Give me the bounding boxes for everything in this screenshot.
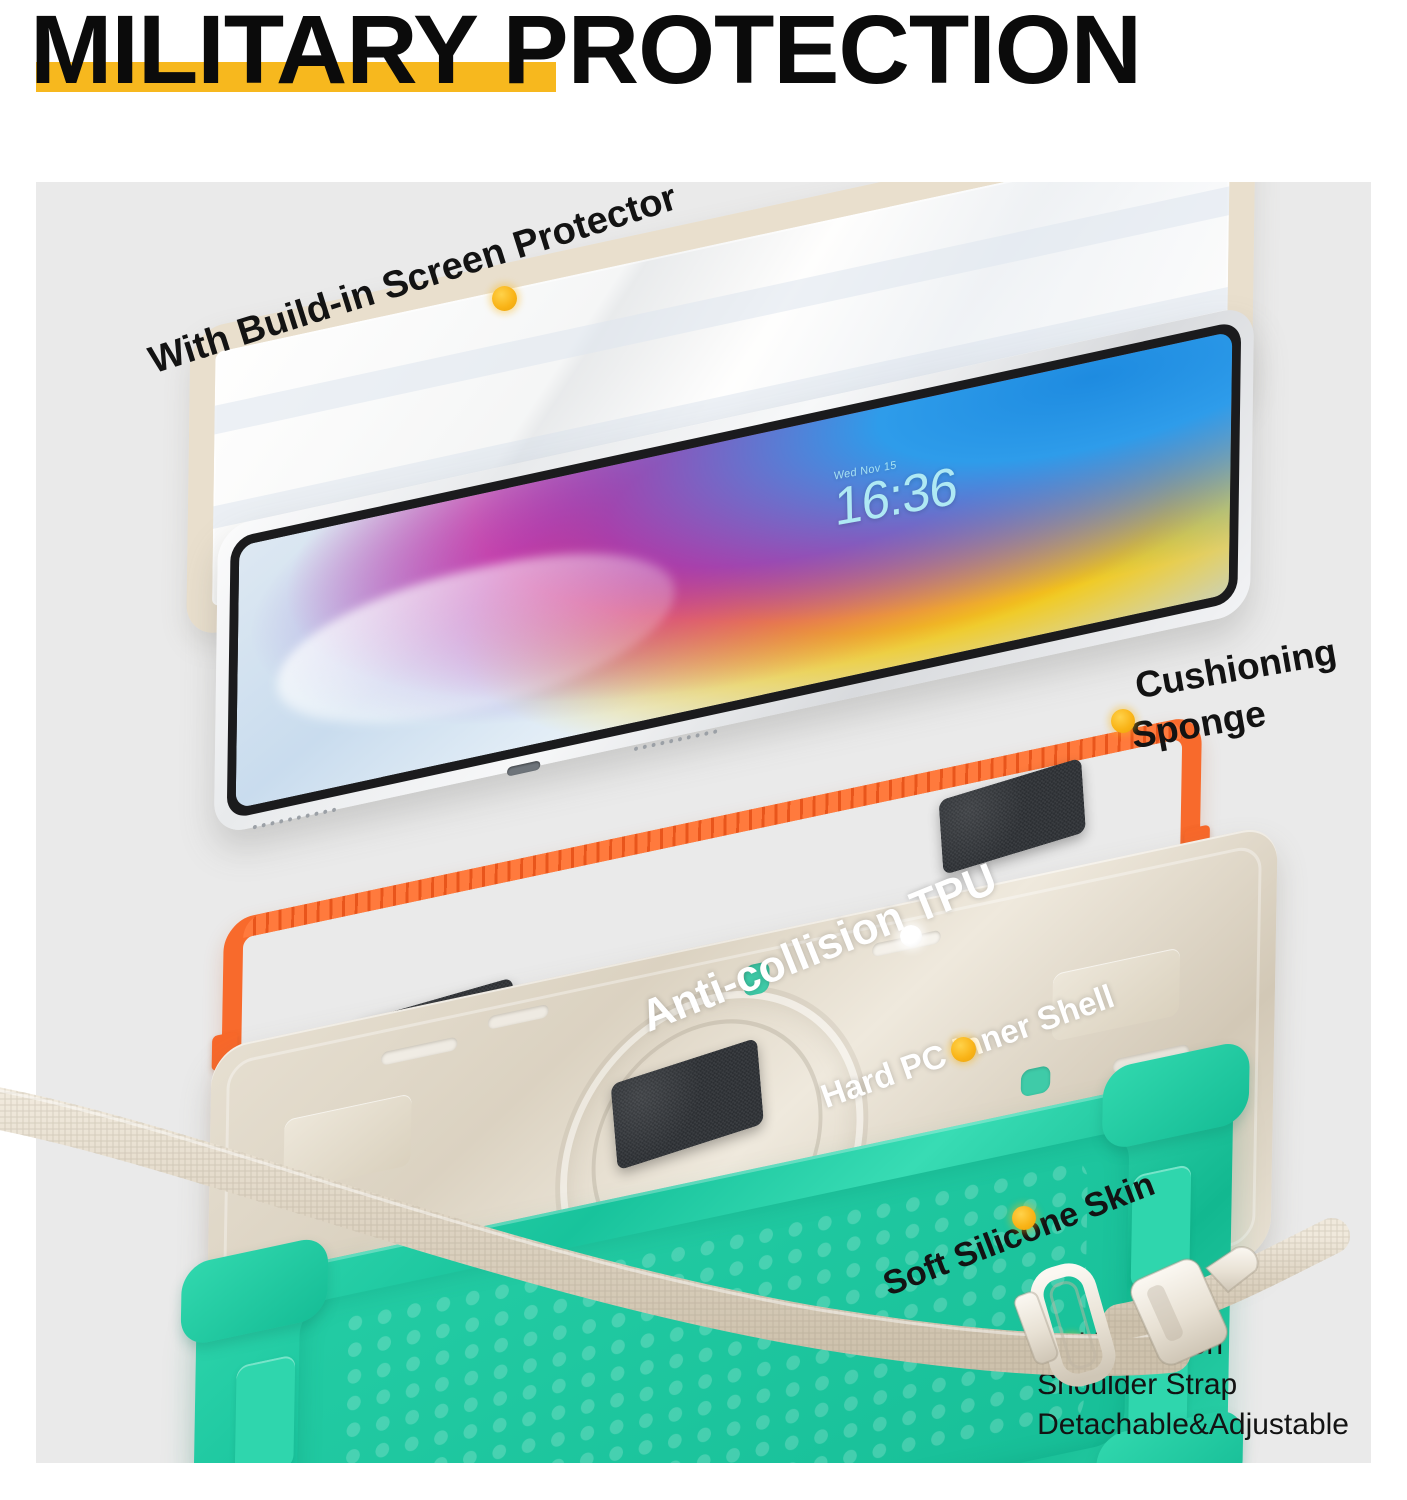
callout-marker-hard-pc-inner-shell: [951, 1037, 976, 1062]
screen-glare: [276, 525, 675, 753]
strap-webbing-edge: [0, 1082, 1170, 1337]
shoulder-strap: [0, 1060, 1407, 1500]
page-title: MILITARY PROTECTION: [30, 0, 1407, 104]
strap-webbing-weave: [0, 1100, 1170, 1355]
page-header: MILITARY PROTECTION: [0, 0, 1407, 118]
callout-marker-anti-collision-tpu: [900, 925, 922, 947]
callout-marker-screen-protector: [492, 286, 517, 311]
lock-screen-clock: Wed Nov 15 16:36: [833, 448, 956, 533]
callout-marker-cushioning-sponge: [1111, 709, 1135, 733]
